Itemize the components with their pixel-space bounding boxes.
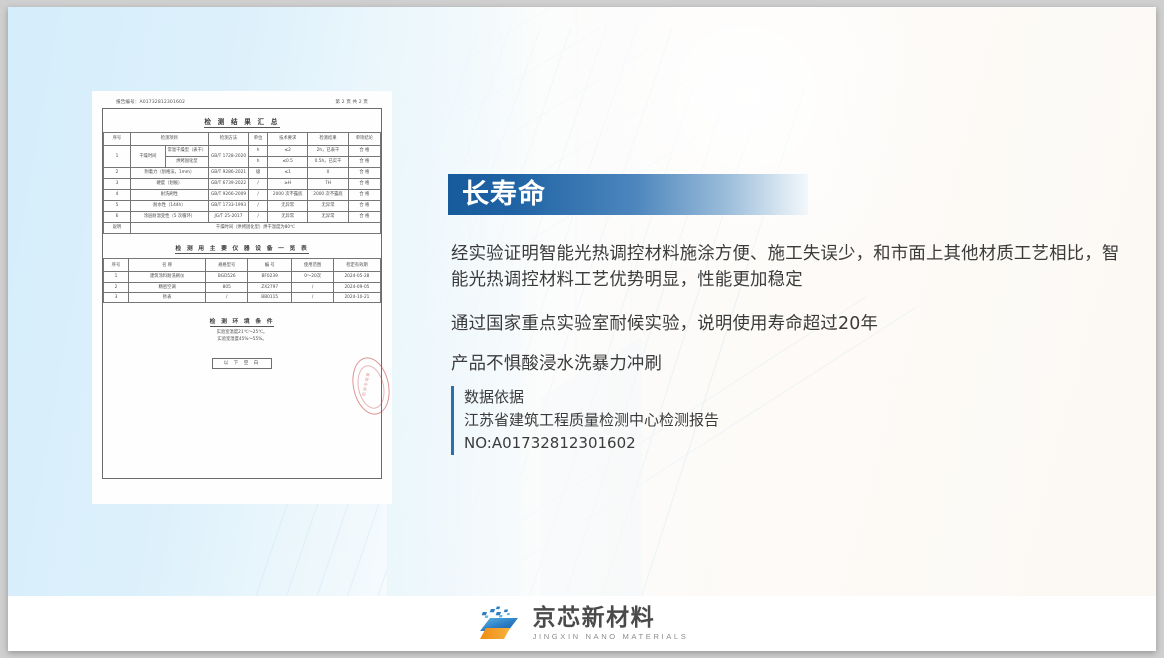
th-valid: 检定有效期 xyxy=(333,259,380,272)
cell-method: GB/T 1728-2020 xyxy=(208,146,248,168)
cell-code: BF0239 xyxy=(248,272,292,282)
brand-logo-icon xyxy=(476,606,522,642)
cell-range: / xyxy=(292,282,334,292)
cell-unit: / xyxy=(249,201,268,212)
cell-req: ≤2 xyxy=(268,146,308,157)
cell-result: 无异常 xyxy=(308,212,348,223)
cell-result: 无异常 xyxy=(308,201,348,212)
th-result: 检测结果 xyxy=(308,133,348,146)
paragraph-1: 经实验证明智能光热调控材料施涂方便、施工失误少，和市面上其他材质工艺相比，智能光… xyxy=(451,241,1123,294)
table-row: 3 硬度（划痕） GB/T 6739-2022 / ≥H 7H 合 格 xyxy=(104,179,381,190)
cell-name: 秒表 xyxy=(128,293,206,303)
note-label: 说明 xyxy=(104,223,131,234)
table-row: 3 秒表 / BB0115 / 2024-10-21 xyxy=(104,293,381,303)
cell-no: 5 xyxy=(104,201,131,212)
cell-result: 2h，已表干 xyxy=(308,146,348,157)
th-method: 检测方法 xyxy=(208,133,248,146)
cell-req: 2000 次不露底 xyxy=(268,190,308,201)
cell-method: GB/T 1733-1993 xyxy=(208,201,248,212)
page-title: 长寿命 xyxy=(448,181,546,208)
paragraph-2: 通过国家重点实验室耐候实验，说明使用寿命超过20年 xyxy=(451,311,1123,337)
report-number: 报告编号：A01732812301602 xyxy=(116,99,185,105)
cell-model: 805 xyxy=(206,282,248,292)
cell-req: 无异常 xyxy=(268,201,308,212)
cell-code: BB0115 xyxy=(248,293,292,303)
th-code: 编 号 xyxy=(248,259,292,272)
table-row: 6 涂层耐温变性（5 次循环） JG/T 25-2017 / 无异常 无异常 合… xyxy=(104,212,381,223)
cell-req: ≤0.5 xyxy=(268,157,308,168)
cell-item: 附着力（划格法，1mm） xyxy=(130,168,208,179)
report-table1-title: 检 测 结 果 汇 总 xyxy=(103,109,381,132)
cell-item-sub: 常温干燥型（表干） xyxy=(165,146,208,157)
cell-valid: 2024-05-28 xyxy=(333,272,380,282)
cell-no: 4 xyxy=(104,190,131,201)
th-range: 使用范围 xyxy=(292,259,334,272)
cell-unit: 级 xyxy=(249,168,268,179)
brand-name-cn: 京芯新材料 xyxy=(533,607,689,630)
cell-range: / xyxy=(292,293,334,303)
environment-conditions: 实验室温度21℃～25℃。 实验室湿度45%～55%。 xyxy=(103,330,381,343)
cell-verdict: 合 格 xyxy=(348,179,380,190)
cell-no: 2 xyxy=(104,168,131,179)
th-no: 序号 xyxy=(104,133,131,146)
cell-no: 3 xyxy=(104,293,129,303)
cell-result: 0.5h，已实干 xyxy=(308,157,348,168)
source-organization: 江苏省建筑工程质量检测中心检测报告 xyxy=(464,409,1024,432)
cell-unit: / xyxy=(249,190,268,201)
table-header-row: 序号 检测项目 检测方法 单位 技术要求 检测结果 单项结论 xyxy=(104,133,381,146)
table-row: 5 耐水性（144h） GB/T 1733-1993 / 无异常 无异常 合 格 xyxy=(104,201,381,212)
th-unit: 单位 xyxy=(249,133,268,146)
cell-verdict: 合 格 xyxy=(348,168,380,179)
cell-name: 建筑涂料耐洗刷仪 xyxy=(128,272,206,282)
cell-name: 精密空调 xyxy=(128,282,206,292)
report-table2-title: 检 测 用 主 要 仪 器 设 备 一 览 表 xyxy=(103,234,381,258)
results-table: 序号 检测项目 检测方法 单位 技术要求 检测结果 单项结论 1 干燥时间 常温… xyxy=(103,132,381,234)
th-name: 名 称 xyxy=(128,259,206,272)
section-title-banner: 长寿命 xyxy=(448,174,808,215)
cell-valid: 2024-10-21 xyxy=(333,293,380,303)
note-text: 干燥时间（烘烤固化型）烘干温度为80℃ xyxy=(130,223,380,234)
instruments-table: 序号 名 称 规格型号 编 号 使用范围 检定有效期 1 建筑涂料耐洗刷仪 BG… xyxy=(103,258,381,303)
th-item: 检测项目 xyxy=(130,133,208,146)
table-row: 2 附着力（划格法，1mm） GB/T 9286-2021 级 ≤1 0 合 格 xyxy=(104,168,381,179)
cell-verdict: 合 格 xyxy=(348,190,380,201)
brand-logo-text: 京芯新材料 JINGXIN NANO MATERIALS xyxy=(533,607,689,641)
test-report-image[interactable]: 报告编号：A01732812301602 第 2 页 共 2 页 检 测 结 果… xyxy=(92,91,392,504)
cell-result: 2000 次不露底 xyxy=(308,190,348,201)
env-humidity: 实验室湿度45%～55%。 xyxy=(103,337,381,344)
th-model: 规格型号 xyxy=(206,259,248,272)
cell-unit: / xyxy=(249,212,268,223)
source-report-number: NO:A01732812301602 xyxy=(464,432,1024,455)
red-seal-stamp-inner xyxy=(354,363,389,411)
table-row: 1 建筑涂料耐洗刷仪 BGD526 BF0239 0～20次 2024-05-2… xyxy=(104,272,381,282)
data-source-block: 数据依据 江苏省建筑工程质量检测中心检测报告 NO:A0173281230160… xyxy=(451,386,1024,455)
red-seal-stamp-text: 检测专用章 xyxy=(361,371,372,397)
cell-item: 耐水性（144h） xyxy=(130,201,208,212)
brand-name-en: JINGXIN NANO MATERIALS xyxy=(533,633,689,641)
cell-code: ZX2797 xyxy=(248,282,292,292)
cell-method: GB/T 6739-2022 xyxy=(208,179,248,190)
cell-no: 6 xyxy=(104,212,131,223)
cell-verdict: 合 格 xyxy=(348,146,380,157)
cell-req: ≤1 xyxy=(268,168,308,179)
cell-no: 2 xyxy=(104,282,129,292)
table-row: 1 干燥时间 常温干燥型（表干） GB/T 1728-2020 h ≤2 2h，… xyxy=(104,146,381,157)
report-page: 报告编号：A01732812301602 第 2 页 共 2 页 检 测 结 果… xyxy=(92,91,392,504)
cell-method: GB/T 9286-2021 xyxy=(208,168,248,179)
cell-model: BGD526 xyxy=(206,272,248,282)
table-row: 2 精密空调 805 ZX2797 / 2024-09-05 xyxy=(104,282,381,292)
th-verdict: 单项结论 xyxy=(348,133,380,146)
th-requirement: 技术要求 xyxy=(268,133,308,146)
cell-method: JG/T 25-2017 xyxy=(208,212,248,223)
cell-no: 1 xyxy=(104,272,129,282)
table-row: 4 耐洗刷性 GB/T 9266-2009 / 2000 次不露底 2000 次… xyxy=(104,190,381,201)
blank-below-box: 以 下 空 白 xyxy=(212,358,272,369)
red-seal-stamp-outer xyxy=(347,354,394,418)
cell-req: ≥H xyxy=(268,179,308,190)
report-table3-title: 检 测 环 境 条 件 xyxy=(103,303,381,330)
cell-item-sub: 烘烤固化型 xyxy=(165,157,208,168)
cell-item: 耐洗刷性 xyxy=(130,190,208,201)
cell-item-main: 干燥时间 xyxy=(130,146,165,168)
cell-result: 7H xyxy=(308,179,348,190)
cell-result: 0 xyxy=(308,168,348,179)
cell-no: 1 xyxy=(104,146,131,168)
footer-bar: 京芯新材料 JINGXIN NANO MATERIALS xyxy=(8,596,1156,651)
slide-canvas: 报告编号：A01732812301602 第 2 页 共 2 页 检 测 结 果… xyxy=(8,7,1156,651)
cell-unit: h xyxy=(249,157,268,168)
cell-verdict: 合 格 xyxy=(348,212,380,223)
cell-verdict: 合 格 xyxy=(348,157,380,168)
paragraph-3: 产品不惧酸浸水洗暴力冲刷 xyxy=(451,351,1123,377)
report-page-label: 第 2 页 共 2 页 xyxy=(335,99,368,105)
table-header-row: 序号 名 称 规格型号 编 号 使用范围 检定有效期 xyxy=(104,259,381,272)
cell-unit: / xyxy=(249,179,268,190)
th-no: 序号 xyxy=(104,259,129,272)
cell-item: 硬度（划痕） xyxy=(130,179,208,190)
cell-no: 3 xyxy=(104,179,131,190)
cell-model: / xyxy=(206,293,248,303)
cell-req: 无异常 xyxy=(268,212,308,223)
cell-range: 0～20次 xyxy=(292,272,334,282)
source-label: 数据依据 xyxy=(464,386,1024,409)
cell-method: GB/T 9266-2009 xyxy=(208,190,248,201)
report-header: 报告编号：A01732812301602 第 2 页 共 2 页 xyxy=(102,99,382,108)
cell-verdict: 合 格 xyxy=(348,201,380,212)
cell-valid: 2024-09-05 xyxy=(333,282,380,292)
cell-item: 涂层耐温变性（5 次循环） xyxy=(130,212,208,223)
cell-unit: h xyxy=(249,146,268,157)
report-frame: 检 测 结 果 汇 总 序号 检测项目 检测方法 单位 技术要求 检测结果 xyxy=(102,108,382,479)
body-copy: 经实验证明智能光热调控材料施涂方便、施工失误少，和市面上其他材质工艺相比，智能光… xyxy=(451,241,1123,392)
table-note-row: 说明 干燥时间（烘烤固化型）烘干温度为80℃ xyxy=(104,223,381,234)
